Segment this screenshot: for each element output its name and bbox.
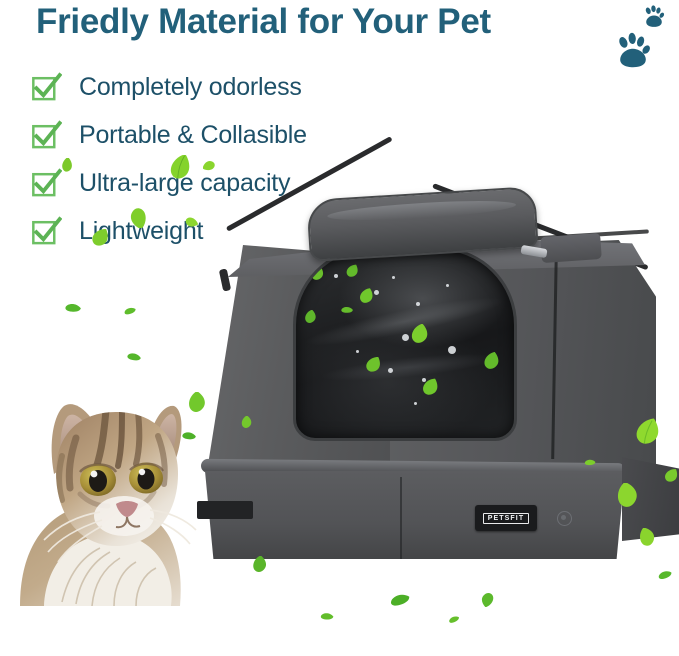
checkbox-checked-icon (31, 120, 62, 151)
vent-hole-icon (557, 511, 572, 526)
leaf-icon (124, 350, 144, 364)
list-item: Completely odorless (28, 68, 448, 116)
base-seam (400, 477, 402, 559)
cat-muzzle (94, 496, 154, 536)
mesh-ventilation-window (293, 247, 517, 441)
flap-highlight (327, 197, 517, 224)
brand-label: PETSFIT (475, 505, 537, 531)
tabby-cat-photo (18, 376, 233, 606)
leaf-icon (318, 610, 336, 623)
air-particle (356, 350, 359, 353)
pet-carrier: PETSFIT (185, 185, 679, 565)
air-particle (422, 378, 426, 382)
leaf-icon (478, 593, 498, 607)
air-particle (416, 302, 420, 306)
paw-print-large-icon (613, 30, 653, 70)
top-tab-panel (540, 233, 602, 263)
air-particle (402, 334, 409, 341)
checkbox-checked-icon (31, 216, 62, 247)
leaf-icon (378, 590, 422, 610)
checkbox-checked-icon (31, 168, 62, 199)
air-particle (392, 276, 395, 279)
leaf-icon (120, 305, 140, 317)
air-particle (334, 274, 338, 278)
air-particle (414, 402, 417, 405)
shoulder-strap-anchor (219, 268, 231, 291)
air-particle (374, 290, 379, 295)
product-feature-banner: Friedly Material for Your Pet Completely… (0, 0, 679, 656)
air-particle (448, 346, 456, 354)
feature-label: Completely odorless (79, 68, 302, 106)
leaf-icon (446, 614, 462, 625)
checkbox-checked-icon (31, 72, 62, 103)
air-particle (388, 368, 393, 373)
leaf-icon (58, 300, 88, 316)
air-particle (446, 284, 449, 287)
page-title: Friedly Material for Your Pet (36, 2, 491, 42)
brand-name: PETSFIT (483, 513, 529, 524)
paw-print-small-icon (641, 3, 667, 29)
feature-label: Portable & Collasible (79, 116, 307, 154)
carrier-base-side (622, 457, 679, 541)
leaf-icon (652, 568, 678, 582)
